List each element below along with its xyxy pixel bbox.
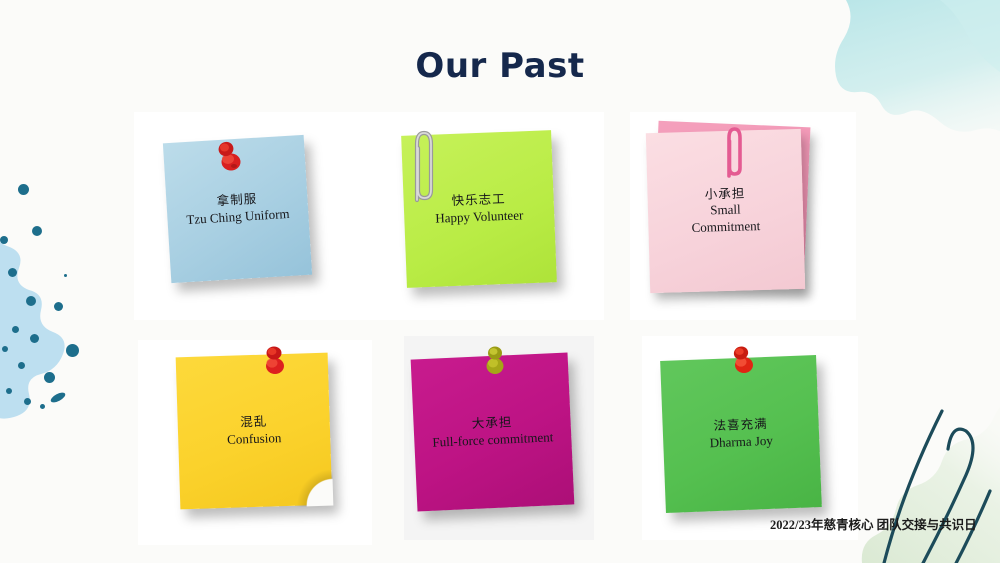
pink-paperclip-icon <box>718 124 744 180</box>
splash-dot <box>26 296 36 306</box>
note-text-cn: 法喜充满 <box>709 416 773 435</box>
splash-dot <box>64 274 67 277</box>
splash-dot <box>30 334 39 343</box>
note-text-small-commitment: 小承担 Small Commitment <box>683 185 769 237</box>
splash-dot <box>12 326 19 333</box>
note-text-en: Small <box>691 201 760 220</box>
grass-stroke-icon <box>878 411 990 563</box>
note-text-full-force-commitment: 大承担 Full-force commitment <box>423 412 561 451</box>
slide-footer: 2022/23年慈青核心 团队交接与共识日 <box>770 514 1000 533</box>
watercolor-splash-left-icon <box>0 190 95 430</box>
splash-dot <box>66 344 79 357</box>
splash-dot <box>54 302 63 311</box>
red-pushpin-icon <box>213 137 247 173</box>
sticky-note-dharma-joy[interactable]: 法喜充满 Dharma Joy <box>660 355 822 513</box>
note-text-dharma-joy: 法喜充满 Dharma Joy <box>701 416 781 452</box>
splash-dot <box>8 268 17 277</box>
splash-dot <box>0 236 8 244</box>
note-text-en: Confusion <box>227 430 282 449</box>
splash-dot <box>6 388 12 394</box>
page-curl-icon <box>294 470 333 507</box>
note-text-cn: 混乱 <box>226 414 281 432</box>
splash-dot <box>18 362 25 369</box>
splash-dot <box>2 346 8 352</box>
page-title: Our Past <box>0 46 1000 86</box>
sticky-note-confusion[interactable]: 混乱 Confusion <box>176 353 333 510</box>
splash-dot <box>32 226 42 236</box>
note-text-happy-volunteer: 快乐志工 Happy Volunteer <box>426 190 531 227</box>
red-pushpin-icon <box>726 342 760 378</box>
note-text-tzu-ching-uniform: 拿制服 Tzu Ching Uniform <box>177 189 298 229</box>
red-pushpin-icon <box>258 342 292 378</box>
note-text-cn: 小承担 <box>691 185 760 203</box>
splash-dot <box>40 404 45 409</box>
silver-paperclip-icon <box>404 126 434 206</box>
note-text-en2: Commitment <box>691 218 760 237</box>
splash-dots-group <box>0 150 120 450</box>
splash-dot <box>24 398 31 405</box>
splash-dot <box>18 184 29 195</box>
note-text-en: Dharma Joy <box>709 432 773 451</box>
slide-canvas: Our Past 拿制服 Tzu Ching Uniform 快乐志工 Happ… <box>0 0 1000 563</box>
splash-dot <box>44 372 55 383</box>
note-text-en: Happy Volunteer <box>435 207 524 227</box>
note-text-confusion: 混乱 Confusion <box>218 413 289 448</box>
olive-pushpin-icon <box>478 342 512 378</box>
splash-dot <box>49 391 66 405</box>
